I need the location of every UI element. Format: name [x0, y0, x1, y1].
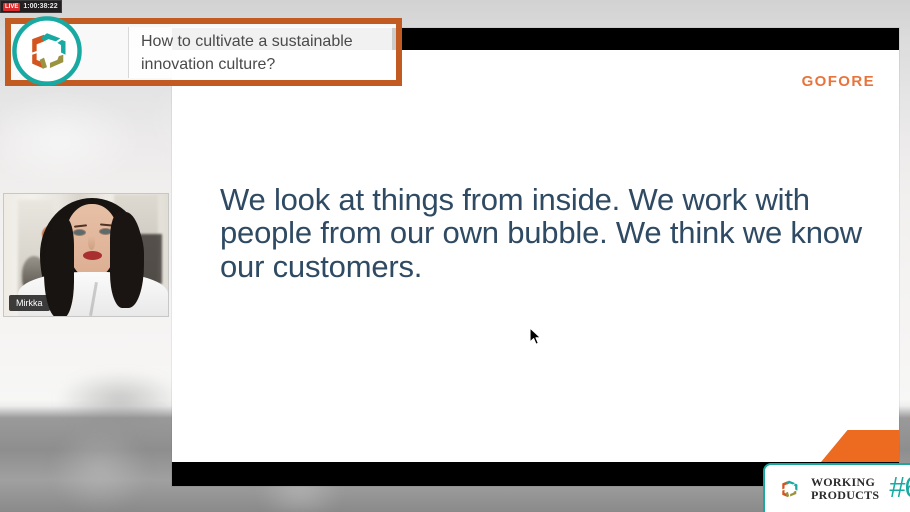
live-recording-badge: LIVE 1:00:38:22	[0, 0, 62, 13]
recording-timecode: 1:00:38:22	[23, 2, 57, 11]
episode-number: #6	[889, 474, 910, 503]
gofore-hexagon-logo-icon	[10, 14, 84, 88]
screen-recording-stage: LIVE 1:00:38:22 GOFORE We look at things…	[0, 0, 910, 512]
working-products-episode-badge: WORKING PRODUCTS #6	[763, 463, 910, 512]
gofore-wordmark: GOFORE	[802, 73, 875, 90]
presentation-slide[interactable]: GOFORE We look at things from inside. We…	[172, 28, 899, 486]
working-products-wordmark: WORKING PRODUCTS	[811, 476, 879, 501]
participant-name-label: Mirkka	[9, 295, 50, 311]
session-title-text: How to cultivate a sustainable innovatio…	[129, 30, 392, 76]
session-title-inner-panel: How to cultivate a sustainable innovatio…	[128, 27, 392, 78]
slide-accent-wedge-shape	[821, 430, 899, 462]
working-products-hexagon-logo-icon	[775, 475, 803, 503]
live-indicator-label: LIVE	[3, 3, 20, 11]
slide-body-text: We look at things from inside. We work w…	[220, 183, 870, 283]
working-products-line-1: WORKING	[811, 476, 879, 489]
participant-video-tile[interactable]: Mirkka	[3, 193, 169, 317]
mouse-cursor-icon	[529, 327, 542, 346]
working-products-line-2: PRODUCTS	[811, 489, 879, 502]
